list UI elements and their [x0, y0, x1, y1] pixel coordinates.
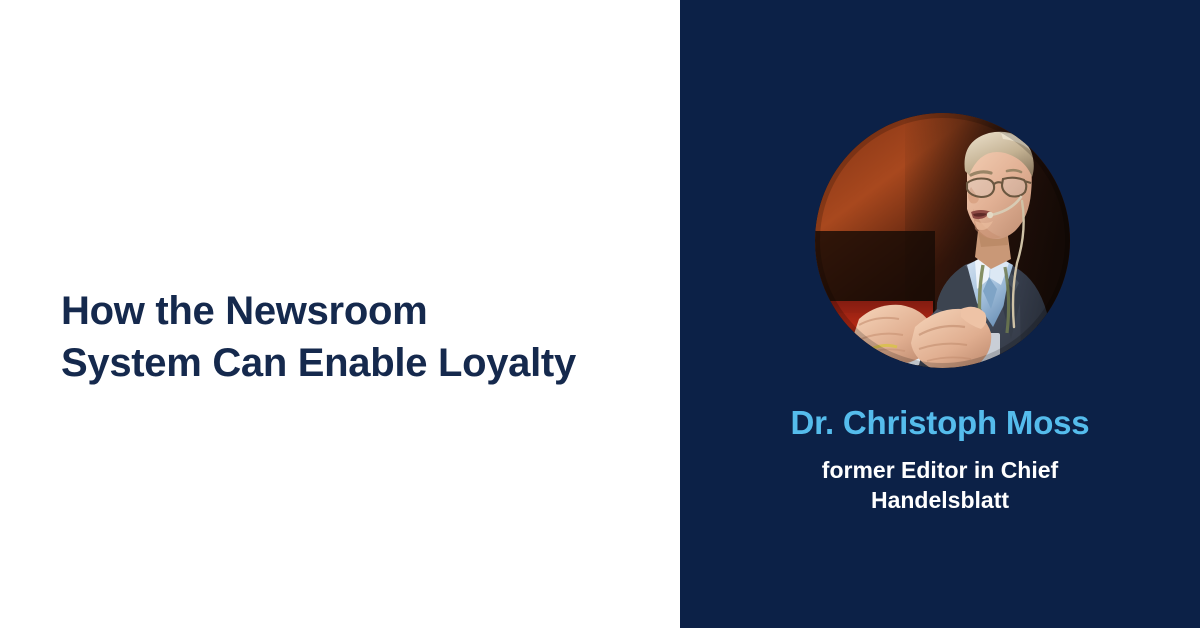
speaker-organization: Handelsblatt: [680, 485, 1200, 515]
speaker-credits: Dr. Christoph Moss former Editor in Chie…: [680, 404, 1200, 516]
page-title: How the Newsroom System Can Enable Loyal…: [61, 285, 651, 389]
avatar: [815, 113, 1070, 368]
title-panel: How the Newsroom System Can Enable Loyal…: [0, 0, 680, 628]
speaker-portrait-image: [815, 113, 1070, 368]
speaker-promo-banner: How the Newsroom System Can Enable Loyal…: [0, 0, 1200, 628]
speaker-role-title: former Editor in Chief: [680, 455, 1200, 485]
speaker-name: Dr. Christoph Moss: [680, 404, 1200, 443]
speaker-panel: Dr. Christoph Moss former Editor in Chie…: [680, 0, 1200, 628]
headline-line-2: System Can Enable Loyalty: [61, 337, 651, 389]
headline-line-1: How the Newsroom: [61, 285, 651, 337]
speaker-role: former Editor in Chief Handelsblatt: [680, 455, 1200, 516]
